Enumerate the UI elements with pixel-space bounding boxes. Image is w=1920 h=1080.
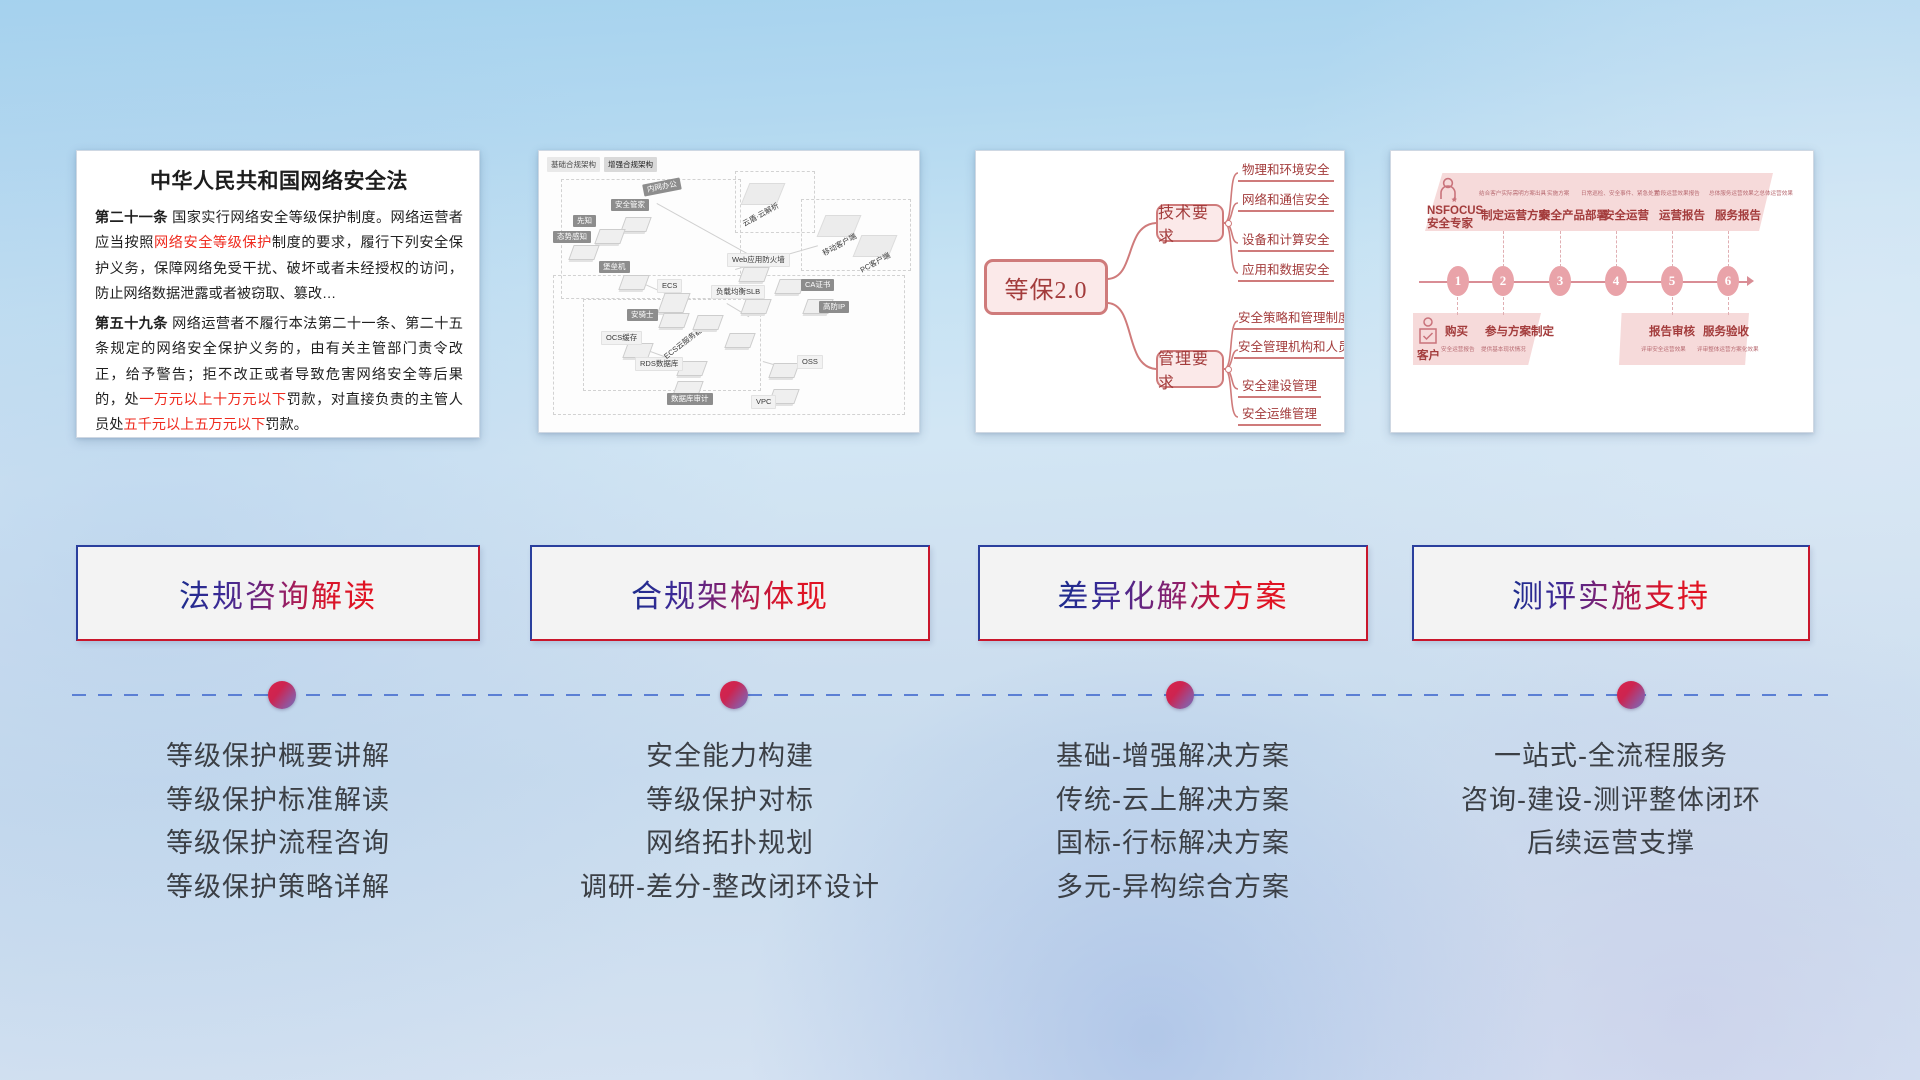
mindmap-root: 等保2.0 — [984, 259, 1108, 315]
list-item: 多元-异构综合方案 — [978, 866, 1368, 910]
headline-box-differentiated-solution[interactable]: 差异化解决方案 — [978, 545, 1368, 641]
node-icon-oss — [768, 363, 799, 378]
detail-column-2: 安全能力构建 等级保护对标 网络拓扑规划 调研-差分-整改闭环设计 — [530, 735, 930, 910]
node-icon-slb — [740, 299, 771, 314]
mindmap-leaf-tech-2: 设备和计算安全 — [1238, 229, 1334, 252]
mindmap-leaf-mgmt-0: 安全策略和管理制度 — [1234, 307, 1345, 330]
article-59-run-4: 罚款。 — [265, 417, 308, 433]
node-icon-anqishi — [658, 313, 689, 328]
timeline-step-3[interactable]: 3 — [1549, 266, 1571, 296]
step-title-3: 安全产品部署 — [1539, 207, 1608, 223]
node-label-bastion: 堡垒机 — [599, 261, 630, 273]
timeline-dashed-line — [72, 694, 1840, 696]
step-title-5: 运营报告 — [1659, 207, 1705, 223]
detail-column-3: 基础-增强解决方案 传统-云上解决方案 国标-行标解决方案 多元-异构综合方案 — [978, 735, 1368, 910]
architecture-tabs[interactable]: 基础合规架构 增强合规架构 — [547, 157, 657, 172]
nsfocus-timeline: NSFOCUS安全专家 客户 1 2 3 4 5 6 结合 — [1391, 151, 1813, 432]
mindmap-leaf-mgmt-1: 安全管理机构和人员 — [1234, 336, 1345, 359]
article-21-run-1: 网络安全等级保护 — [154, 235, 272, 251]
node-label-slb: 负载均衡SLB — [711, 285, 765, 299]
customer-title-1: 购买 — [1445, 323, 1468, 339]
role-label-expert: NSFOCUS安全专家 — [1427, 205, 1471, 231]
node-label-anqishi: 安骑士 — [627, 309, 658, 321]
list-item: 传统-云上解决方案 — [978, 779, 1368, 823]
article-21-label: 第二十一条 — [95, 210, 168, 226]
customer-title-2: 参与方案制定 — [1485, 323, 1554, 339]
step-sub-5: 阶段运营效果报告 — [1655, 189, 1700, 197]
timeline-step-6[interactable]: 6 — [1717, 266, 1739, 296]
law-article-59: 第五十九条 网络运营者不履行本法第二十一条、第二十五条规定的网络安全保护义务的，… — [95, 312, 463, 438]
list-item: 等级保护策略详解 — [76, 866, 480, 910]
customer-title-4: 服务验收 — [1703, 323, 1749, 339]
node-label-security-butler: 安全管家 — [611, 199, 649, 211]
timeline-step-2[interactable]: 2 — [1492, 266, 1514, 296]
timeline-stem-6 — [1728, 231, 1729, 267]
mindmap-diagram: 等保2.0 技术要求 管理要求 物理和环境安全 网络和通信安全 设备和计算安全 … — [976, 151, 1344, 432]
node-icon-bastion — [618, 275, 649, 290]
reference-cards-row: 中华人民共和国网络安全法 第二十一条 国家实行网络安全等级保护制度。网络运营者应… — [0, 150, 1920, 450]
article-59-run-1: 一万元以上十万元以下 — [139, 392, 286, 408]
mindmap-leaf-mgmt-2: 安全建设管理 — [1238, 375, 1321, 398]
list-item: 后续运营支撑 — [1412, 822, 1810, 866]
headline-box-compliance-architecture[interactable]: 合规架构体现 — [530, 545, 930, 641]
list-item: 国标-行标解决方案 — [978, 822, 1368, 866]
node-icon-ecs-3 — [724, 333, 755, 348]
tab-basic-architecture[interactable]: 基础合规架构 — [547, 157, 600, 172]
timeline-stem-c2 — [1503, 297, 1504, 315]
list-item: 一站式-全流程服务 — [1412, 735, 1810, 779]
node-icon-ocs — [622, 343, 653, 358]
list-item: 安全能力构建 — [530, 735, 930, 779]
list-item: 网络拓扑规划 — [530, 822, 930, 866]
mindmap-leaf-tech-3: 应用和数据安全 — [1238, 259, 1334, 282]
node-icon-waf — [738, 267, 769, 282]
node-label-oss: OSS — [797, 355, 823, 369]
timeline-node-2[interactable] — [720, 681, 748, 709]
headline-label-1: 法规咨询解读 — [179, 571, 377, 616]
expert-person-icon — [1435, 177, 1461, 203]
timeline-node-3[interactable] — [1166, 681, 1194, 709]
node-label-situational-awareness: 态势感知 — [553, 231, 591, 243]
node-icon-ecs-2 — [692, 315, 723, 330]
headline-box-assessment-support[interactable]: 测评实施支持 — [1412, 545, 1810, 641]
timeline-arrow-icon — [1747, 276, 1754, 286]
law-title: 中华人民共和国网络安全法 — [95, 165, 463, 195]
timeline-stem-c4 — [1728, 297, 1729, 315]
article-59-run-3: 五千元以上五万元以下 — [123, 417, 265, 433]
law-document: 中华人民共和国网络安全法 第二十一条 国家实行网络安全等级保护制度。网络运营者应… — [77, 151, 479, 437]
timeline-step-5[interactable]: 5 — [1661, 266, 1683, 296]
list-item: 等级保护概要讲解 — [76, 735, 480, 779]
detail-column-1: 等级保护概要讲解 等级保护标准解读 等级保护流程咨询 等级保护策略详解 — [76, 735, 480, 910]
mindmap-leaf-tech-1: 网络和通信安全 — [1238, 189, 1334, 212]
tab-enhanced-architecture[interactable]: 增强合规架构 — [604, 157, 657, 172]
node-label-rds: RDS数据库 — [635, 357, 683, 371]
node-label-db-audit: 数据库审计 — [667, 393, 713, 405]
list-item: 调研-差分-整改闭环设计 — [530, 866, 930, 910]
law-article-21: 第二十一条 国家实行网络安全等级保护制度。网络运营者应当按照网络安全等级保护制度… — [95, 206, 463, 307]
role-label-customer: 客户 — [1417, 347, 1439, 363]
step-sub-2: 结合客户实际需明方案出具 — [1479, 189, 1546, 197]
mindmap-collapse-management-icon[interactable] — [1225, 366, 1232, 373]
banner-customer-lane-right — [1619, 313, 1749, 365]
list-item: 等级保护标准解读 — [76, 779, 480, 823]
step-sub-4: 日常巡检、安全事件、紧急处置 — [1581, 189, 1659, 197]
mindmap-leaf-tech-0: 物理和环境安全 — [1238, 159, 1334, 182]
headline-row: 法规咨询解读 合规架构体现 差异化解决方案 测评实施支持 — [0, 545, 1920, 641]
node-icon-xianzhi — [594, 229, 625, 244]
headline-label-2: 合规架构体现 — [631, 571, 829, 616]
customer-sub-1: 安全运营报告 — [1441, 345, 1475, 353]
mindmap-branch-technical: 技术要求 — [1156, 204, 1224, 242]
node-label-anti-ddos: 高防IP — [819, 301, 849, 313]
architecture-diagram: 基础合规架构 增强合规架构 内网办公 安全管家 先知 态势感知 堡垒机 — [539, 151, 919, 432]
timeline-stem-2 — [1503, 231, 1504, 267]
customer-sub-4: 评审整体运营方案化效果 — [1697, 345, 1759, 353]
node-label-ocs: OCS缓存 — [601, 331, 642, 345]
mindmap-leaf-mgmt-3: 安全运维管理 — [1238, 403, 1321, 426]
article-59-label: 第五十九条 — [95, 316, 168, 332]
step-title-6: 服务报告 — [1715, 207, 1761, 223]
step-sub-6: 总体服务运营效果之总体运营效果 — [1709, 189, 1793, 197]
timeline-stem-c1 — [1457, 297, 1458, 315]
headline-label-3: 差异化解决方案 — [1058, 571, 1289, 616]
timeline-stem-4 — [1616, 231, 1617, 267]
step-title-4: 安全运营 — [1603, 207, 1649, 223]
list-item: 等级保护对标 — [530, 779, 930, 823]
customer-title-3: 报告审核 — [1649, 323, 1695, 339]
timeline-step-4[interactable]: 4 — [1605, 266, 1627, 296]
node-label-xianzhi: 先知 — [573, 215, 596, 227]
mindmap-collapse-technical-icon[interactable] — [1225, 220, 1232, 227]
customer-sub-2: 提供基本现状情况 — [1481, 345, 1526, 353]
node-label-vpc: VPC — [751, 395, 776, 409]
list-item: 咨询-建设-测评整体闭环 — [1412, 779, 1810, 823]
headline-box-regulation-consulting[interactable]: 法规咨询解读 — [76, 545, 480, 641]
customer-sub-3: 评审安全运营效果 — [1641, 345, 1686, 353]
card-nsfocus-service-timeline[interactable]: NSFOCUS安全专家 客户 1 2 3 4 5 6 结合 — [1390, 150, 1814, 433]
timeline-stem-3 — [1560, 231, 1561, 267]
card-cybersecurity-law[interactable]: 中华人民共和国网络安全法 第二十一条 国家实行网络安全等级保护制度。网络运营者应… — [76, 150, 480, 438]
node-label-ca: CA证书 — [801, 279, 834, 291]
timeline-stem-c3 — [1672, 297, 1673, 315]
timeline-step-1[interactable]: 1 — [1447, 266, 1469, 296]
mindmap-branch-management: 管理要求 — [1156, 350, 1224, 388]
timeline-node-1[interactable] — [268, 681, 296, 709]
card-dengbao-mindmap[interactable]: 等保2.0 技术要求 管理要求 物理和环境安全 网络和通信安全 设备和计算安全 … — [975, 150, 1345, 433]
node-label-ecs: ECS — [657, 279, 682, 293]
customer-person-icon — [1417, 317, 1439, 347]
detail-column-4: 一站式-全流程服务 咨询-建设-测评整体闭环 后续运营支撑 — [1412, 735, 1810, 866]
list-item: 基础-增强解决方案 — [978, 735, 1368, 779]
timeline-connector — [72, 694, 1840, 696]
step-sub-3: 实施方案 — [1547, 189, 1569, 197]
list-item: 等级保护流程咨询 — [76, 822, 480, 866]
node-label-waf: Web应用防火墙 — [727, 253, 790, 267]
timeline-node-4[interactable] — [1617, 681, 1645, 709]
timeline-stem-5 — [1672, 231, 1673, 267]
node-icon-situational-awareness — [568, 245, 599, 260]
card-compliance-architecture[interactable]: 基础合规架构 增强合规架构 内网办公 安全管家 先知 态势感知 堡垒机 — [538, 150, 920, 433]
headline-label-4: 测评实施支持 — [1512, 571, 1710, 616]
